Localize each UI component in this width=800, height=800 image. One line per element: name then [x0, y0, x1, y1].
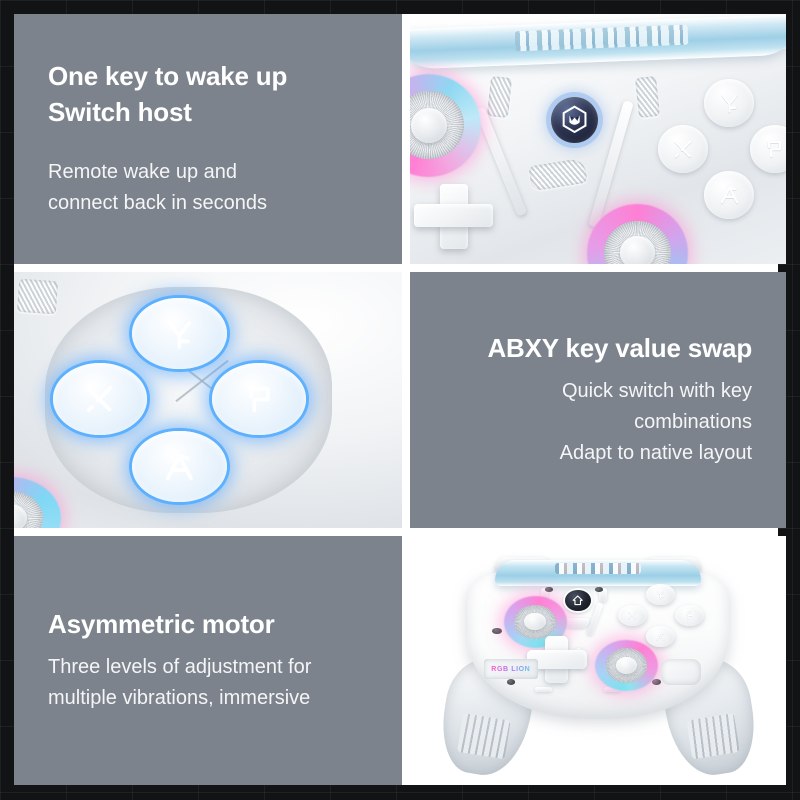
button-x-glyph	[73, 378, 128, 420]
panel-abxy-swap: ABXY key value swap Quick switch with ke…	[410, 272, 786, 528]
button-x[interactable]	[658, 125, 708, 173]
button-a-glyph	[760, 135, 786, 163]
panel-wake-up: One key to wake up Switch host Remote wa…	[14, 14, 402, 264]
house-icon	[570, 594, 585, 607]
panel-grid: One key to wake up Switch host Remote wa…	[14, 14, 778, 785]
button-b-glyph	[652, 630, 669, 643]
panel-abxy-macro	[14, 272, 402, 528]
screw-top-right	[595, 587, 602, 592]
button-y-lit[interactable]	[132, 298, 226, 370]
vent-upper-left	[17, 278, 58, 314]
brand-badge: RGB LION	[484, 659, 538, 679]
button-a-lit[interactable]	[212, 363, 306, 435]
gamepad-button-y[interactable]	[646, 584, 675, 606]
abxy-cluster	[658, 79, 786, 219]
vent-left	[487, 76, 512, 118]
panel-asymmetric-motor-title: Asymmetric motor	[48, 607, 275, 643]
gamepad-left-stick-cap	[524, 613, 545, 631]
home-button[interactable]	[551, 97, 598, 143]
panel-asymmetric-motor-sub-line1: Three levels of adjustment for	[48, 652, 311, 683]
button-x-glyph	[624, 609, 641, 622]
brand-badge-label: RGB LION	[491, 666, 530, 673]
gamepad-home-button[interactable]	[565, 590, 591, 611]
screw-top-left	[545, 587, 552, 592]
gamepad-abxy-cluster	[618, 584, 704, 652]
gamepad-button-x[interactable]	[618, 605, 647, 627]
panel-wake-up-sub-line2: connect back in seconds	[48, 188, 267, 219]
controller-face-photo	[410, 14, 786, 264]
left-stick-cap	[411, 108, 447, 143]
panel-wake-up-title-line1: One key to wake up	[48, 59, 287, 95]
panel-wake-up-title-line2: Switch host	[48, 95, 192, 131]
button-a-glyph	[232, 378, 287, 420]
grip-right-internals	[686, 714, 740, 760]
accent-lower-left	[535, 687, 552, 692]
button-b-glyph	[715, 181, 744, 209]
button-b-lit[interactable]	[132, 431, 226, 503]
gamepad-button-b[interactable]	[646, 626, 675, 648]
abxy-cluster-lit	[53, 298, 301, 503]
gamepad-button-a[interactable]	[675, 605, 704, 627]
button-y-glyph	[715, 89, 744, 117]
abxy-macro-photo	[14, 272, 402, 528]
grip-left-internals	[457, 714, 511, 760]
button-y[interactable]	[704, 79, 754, 127]
panel-wake-up-sub-line1: Remote wake up and	[48, 157, 237, 188]
gamepad: RGB LION	[455, 556, 741, 755]
panel-abxy-swap-sub-line1: Quick switch with key combinations	[444, 376, 752, 438]
full-controller-photo: RGB LION	[410, 536, 786, 785]
accent-center-chevron	[564, 618, 590, 628]
button-x-glyph	[669, 135, 698, 163]
gamepad-bezel-window	[555, 563, 641, 574]
panel-asymmetric-motor-sub-line2: multiple vibrations, immersive	[48, 683, 310, 714]
panel-full-controller: RGB LION	[410, 536, 786, 785]
button-b-glyph	[152, 446, 207, 488]
button-x-lit[interactable]	[53, 363, 147, 435]
panel-asymmetric-motor: Asymmetric motor Three levels of adjustm…	[14, 536, 402, 785]
button-y-glyph	[652, 588, 669, 601]
button-a-glyph	[681, 609, 698, 622]
panel-abxy-swap-sub-line2: Adapt to native layout	[560, 438, 752, 469]
lion-hexagon-icon	[560, 105, 589, 134]
button-a[interactable]	[750, 125, 786, 173]
button-y-glyph	[152, 313, 207, 355]
dpad-horizontal-arm	[414, 204, 493, 227]
product-feature-board: One key to wake up Switch host Remote wa…	[0, 0, 800, 800]
right-stick-cap	[620, 236, 655, 264]
right-paddle-recess[interactable]	[661, 659, 701, 685]
panel-home-button-closeup	[410, 14, 786, 264]
button-b[interactable]	[704, 171, 754, 219]
panel-abxy-swap-title: ABXY key value swap	[487, 331, 752, 367]
